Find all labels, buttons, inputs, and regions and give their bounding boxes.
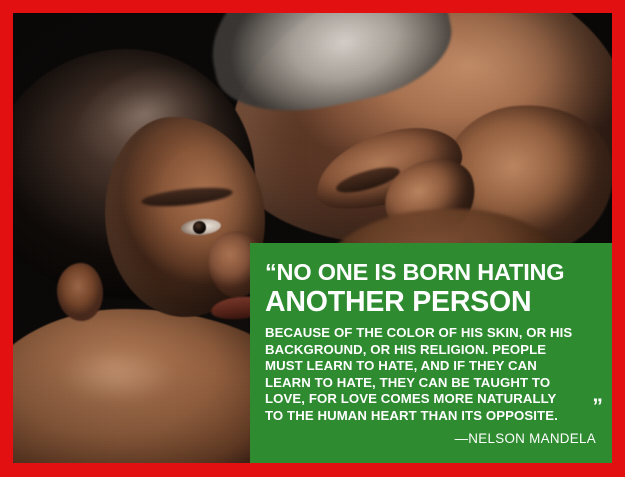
quote-poster: “NO ONE IS BORN HATING ANOTHER PERSON BE… <box>0 0 625 477</box>
quote-headline-first-line: “NO ONE IS BORN HATING <box>265 260 601 285</box>
quote-body-line: BECAUSE OF THE COLOR OF HIS SKIN, OR HIS <box>265 325 601 342</box>
quote-panel: “NO ONE IS BORN HATING ANOTHER PERSON BE… <box>250 243 612 463</box>
child-shoulder-highlight <box>41 343 211 423</box>
quote-body-line-text: LOVE, FOR LOVE COMES MORE NATURALLY <box>265 391 556 406</box>
quote-body: BECAUSE OF THE COLOR OF HIS SKIN, OR HIS… <box>265 325 601 424</box>
child-pupil <box>193 221 206 234</box>
quote-attribution: —NELSON MANDELA <box>265 431 601 446</box>
photograph: “NO ONE IS BORN HATING ANOTHER PERSON BE… <box>13 13 612 463</box>
quote-body-line-with-closing-quote: LOVE, FOR LOVE COMES MORE NATURALLY ” <box>265 391 601 408</box>
quote-body-line: LEARN TO HATE, THEY CAN BE TAUGHT TO <box>265 375 601 392</box>
quote-body-line: BACKGROUND, OR HIS RELIGION. PEOPLE <box>265 342 601 359</box>
child-ear <box>57 263 103 321</box>
quote-body-line: MUST LEARN TO HATE, AND IF THEY CAN <box>265 358 601 375</box>
quote-body-line: TO THE HUMAN HEART THAN ITS OPPOSITE. <box>265 408 601 425</box>
quote-headline-second-line: ANOTHER PERSON <box>265 286 601 319</box>
